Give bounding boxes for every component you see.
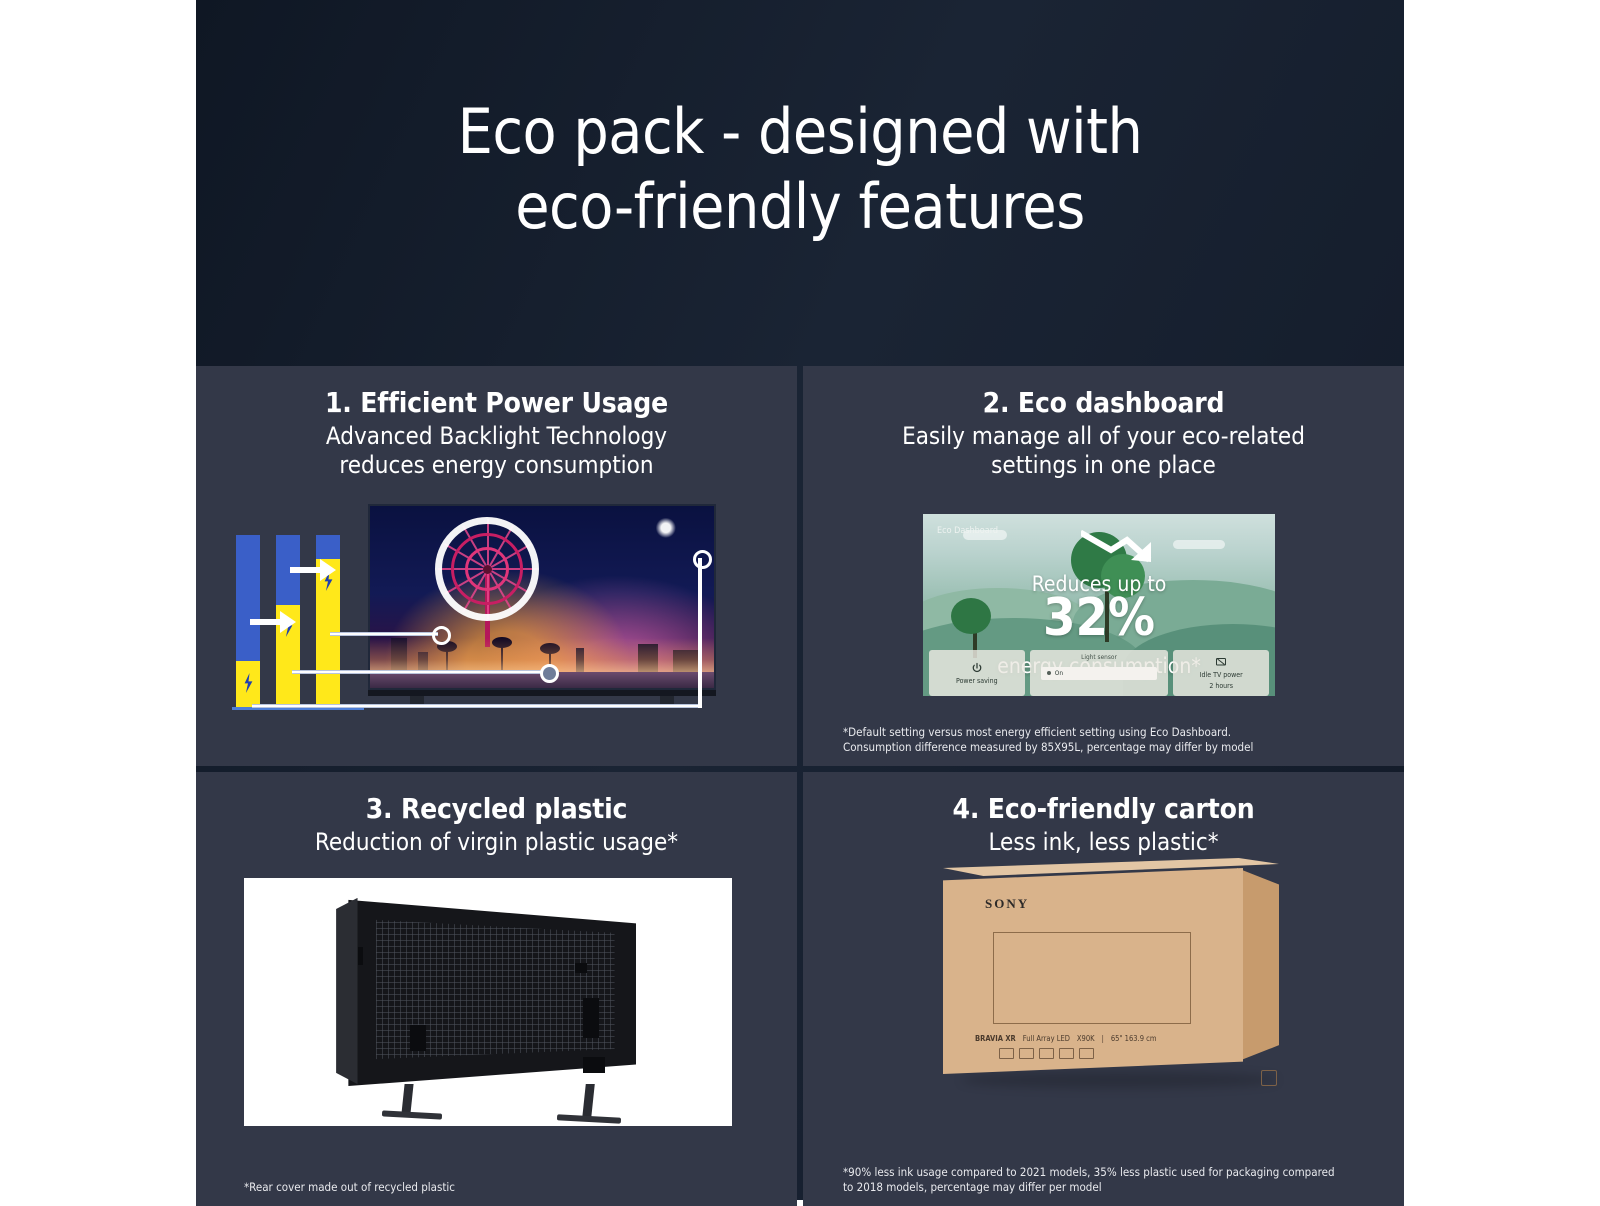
carton-icon xyxy=(1039,1048,1054,1059)
tv-stand-foot xyxy=(382,1110,442,1119)
tile-idle-tv-power[interactable]: Idle TV power 2 hours xyxy=(1173,650,1269,696)
panel-4-footnote-line-2: to 2018 models, percentage may differ pe… xyxy=(843,1180,1404,1196)
tv-rear-cover-image xyxy=(244,878,732,1126)
page-title-line-2: eco-friendly features xyxy=(196,169,1404,244)
panel-2-title: 2. Eco dashboard xyxy=(803,386,1404,419)
tv-port xyxy=(583,1057,605,1073)
panel-3-footnote-line-1: *Rear cover made out of recycled plastic xyxy=(244,1180,797,1196)
tv-port xyxy=(358,947,363,965)
callout-line xyxy=(252,704,702,708)
panel-3-subtitle: Reduction of virgin plastic usage* xyxy=(196,828,797,857)
panel-4-footnote-line-1: *90% less ink usage compared to 2021 mod… xyxy=(843,1165,1404,1181)
panel-4-subtitle-line-1: Less ink, less plastic* xyxy=(819,828,1388,857)
carton-spec-panel: Full Array LED xyxy=(1023,1034,1070,1043)
panel-1-subtitle-line-2: reduces energy consumption xyxy=(212,451,781,480)
tile-light-sensor-label: Light sensor xyxy=(1030,653,1169,661)
carton-spec-model: X90K xyxy=(1077,1034,1095,1043)
carton-icon xyxy=(1059,1048,1074,1059)
tv-stand-foot xyxy=(557,1114,621,1123)
panel-2-footnote: *Default setting versus most energy effi… xyxy=(803,725,1404,756)
carton-spec-line: BRAVIA XR Full Array LED X90K | 65" 163.… xyxy=(975,1034,1237,1043)
carton-icon xyxy=(1019,1048,1034,1059)
tv-logo-plate xyxy=(575,963,587,973)
panel-1-subtitle: Advanced Backlight Technology reduces en… xyxy=(196,422,797,481)
carton-spec-size: 65" 163.9 cm xyxy=(1111,1034,1157,1043)
power-icon xyxy=(971,662,983,674)
panel-1-subtitle-line-1: Advanced Backlight Technology xyxy=(212,422,781,451)
cloud-shape xyxy=(1173,540,1225,549)
dashboard-label: Eco Dashboard xyxy=(937,526,998,536)
tv-stand-leg xyxy=(402,1084,414,1114)
tile-light-sensor[interactable]: Light sensor On xyxy=(1030,650,1169,696)
carton-feature-icons xyxy=(999,1048,1094,1059)
eco-dashboard-screenshot: Eco Dashboard Reduces up to 32% energy c… xyxy=(923,514,1275,696)
page-title-line-1: Eco pack - designed with xyxy=(196,94,1404,169)
panel-efficient-power-usage: 1. Efficient Power Usage Advanced Backli… xyxy=(196,366,797,766)
panel-eco-dashboard: 2. Eco dashboard Easily manage all of yo… xyxy=(803,366,1404,766)
tile-idle-tv-power-value: 2 hours xyxy=(1209,682,1233,690)
panel-4-header: 4. Eco-friendly carton Less ink, less pl… xyxy=(803,772,1404,857)
panel-2-subtitle: Easily manage all of your eco-related se… xyxy=(803,422,1404,481)
callout-line xyxy=(292,670,546,674)
screenshot-root: Eco pack - designed with eco-friendly fe… xyxy=(0,0,1600,1200)
header-section: Eco pack - designed with eco-friendly fe… xyxy=(196,0,1404,366)
callout-line xyxy=(330,632,438,636)
panel-4-footnote: *90% less ink usage compared to 2021 mod… xyxy=(803,1165,1404,1196)
dashboard-overlay-value: 32% xyxy=(923,592,1275,644)
tv-rear-chassis xyxy=(330,892,636,1088)
carton-shadow xyxy=(961,1072,1277,1088)
panel-2-subtitle-line-1: Easily manage all of your eco-related xyxy=(819,422,1388,451)
carton-side-face xyxy=(1237,868,1279,1074)
panel-3-footnote: *Rear cover made out of recycled plastic xyxy=(196,1180,797,1196)
dashboard-landscape-background: Eco Dashboard Reduces up to 32% energy c… xyxy=(923,514,1275,696)
panel-4-subtitle: Less ink, less plastic* xyxy=(803,828,1404,857)
panel-3-subtitle-line-1: Reduction of virgin plastic usage* xyxy=(212,828,781,857)
light-sensor-toggle[interactable]: On xyxy=(1041,667,1158,680)
panel-2-header: 2. Eco dashboard Easily manage all of yo… xyxy=(803,366,1404,481)
carton-badge-icon xyxy=(1261,1070,1277,1086)
tv-port xyxy=(583,998,599,1038)
carton-spec-brand: BRAVIA XR xyxy=(975,1034,1016,1043)
page-title: Eco pack - designed with eco-friendly fe… xyxy=(196,94,1404,244)
tile-light-sensor-value: On xyxy=(1055,669,1063,677)
carton-box-image: SONY BRAVIA XR Full Array LED X90K | 65"… xyxy=(901,858,1331,1108)
tv-stand-leg xyxy=(582,1084,595,1118)
dashboard-settings-tiles: Power saving Light sensor On xyxy=(923,650,1275,696)
radio-dot-icon xyxy=(1047,671,1051,675)
panel-3-header: 3. Recycled plastic Reduction of virgin … xyxy=(196,772,797,857)
panel-1-header: 1. Efficient Power Usage Advanced Backli… xyxy=(196,366,797,481)
callout-vertical-line xyxy=(698,558,702,708)
tv-port xyxy=(410,1025,426,1051)
panel-1-title: 1. Efficient Power Usage xyxy=(196,386,797,419)
carton-icon xyxy=(1079,1048,1094,1059)
carton-icon xyxy=(999,1048,1014,1059)
callout-dot-icon xyxy=(693,550,712,569)
panel-2-footnote-line-2: Consumption difference measured by 85X95… xyxy=(843,740,1404,756)
callout-dot-icon xyxy=(540,664,559,683)
tile-power-saving[interactable]: Power saving xyxy=(929,650,1025,696)
panel-2-subtitle-line-2: settings in one place xyxy=(819,451,1388,480)
panel-eco-friendly-carton: 4. Eco-friendly carton Less ink, less pl… xyxy=(803,772,1404,1206)
downward-trend-arrow-icon xyxy=(1081,528,1167,570)
tile-power-saving-label: Power saving xyxy=(956,677,998,685)
callout-dot-icon xyxy=(432,626,451,645)
screen-off-icon xyxy=(1215,656,1227,668)
callout-lines xyxy=(220,498,756,718)
panel-recycled-plastic: 3. Recycled plastic Reduction of virgin … xyxy=(196,772,797,1206)
panel-3-title: 3. Recycled plastic xyxy=(196,792,797,825)
panel-2-footnote-line-1: *Default setting versus most energy effi… xyxy=(843,725,1404,741)
power-usage-illustration xyxy=(220,498,756,718)
tile-idle-tv-power-label: Idle TV power xyxy=(1200,671,1243,679)
sony-logo: SONY xyxy=(985,896,1029,912)
eco-pack-infographic: Eco pack - designed with eco-friendly fe… xyxy=(196,0,1404,1200)
panel-4-title: 4. Eco-friendly carton xyxy=(803,792,1404,825)
carton-spec-separator: | xyxy=(1102,1034,1104,1043)
feature-grid: 1. Efficient Power Usage Advanced Backli… xyxy=(196,366,1404,1200)
tv-side-edge xyxy=(336,898,357,1084)
carton-tv-outline xyxy=(993,932,1191,1024)
